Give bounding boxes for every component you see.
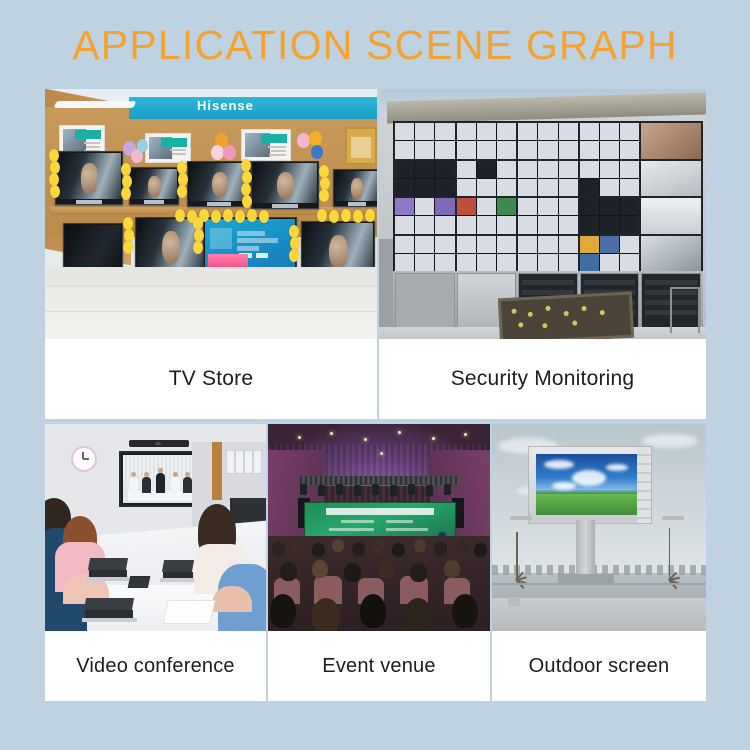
scene-card-video-conference[interactable]: Video conference (45, 424, 266, 701)
caption-event-venue: Event venue (268, 631, 490, 701)
scene-card-tv-store[interactable]: Hisense (45, 89, 377, 419)
security-monitoring-image (379, 89, 706, 339)
wall-clock-icon (71, 446, 97, 472)
audience (268, 536, 490, 631)
caption-tv-store: TV Store (45, 339, 377, 419)
caption-security-monitoring: Security Monitoring (379, 339, 706, 419)
caption-video-conference: Video conference (45, 631, 266, 701)
outdoor-screen-image (492, 424, 706, 631)
cctv-video-wall (393, 121, 703, 273)
scene-card-security-monitoring[interactable]: Security Monitoring (379, 89, 706, 419)
scene-row-2: Video conference (45, 424, 706, 701)
scene-grid: Hisense (45, 89, 706, 701)
tv-store-image: Hisense (45, 89, 377, 339)
page-title: APPLICATION SCENE GRAPH (0, 22, 750, 69)
application-scene-graph-page: APPLICATION SCENE GRAPH Hisense (0, 0, 750, 750)
hisense-sign-text: Hisense (197, 98, 254, 113)
event-venue-image (268, 424, 490, 631)
video-conference-image (45, 424, 266, 631)
scene-card-outdoor-screen[interactable]: Outdoor screen (492, 424, 706, 701)
scene-card-event-venue[interactable]: Event venue (268, 424, 490, 701)
scene-row-1: Hisense (45, 89, 706, 419)
led-billboard (528, 446, 652, 524)
caption-outdoor-screen: Outdoor screen (492, 631, 706, 701)
